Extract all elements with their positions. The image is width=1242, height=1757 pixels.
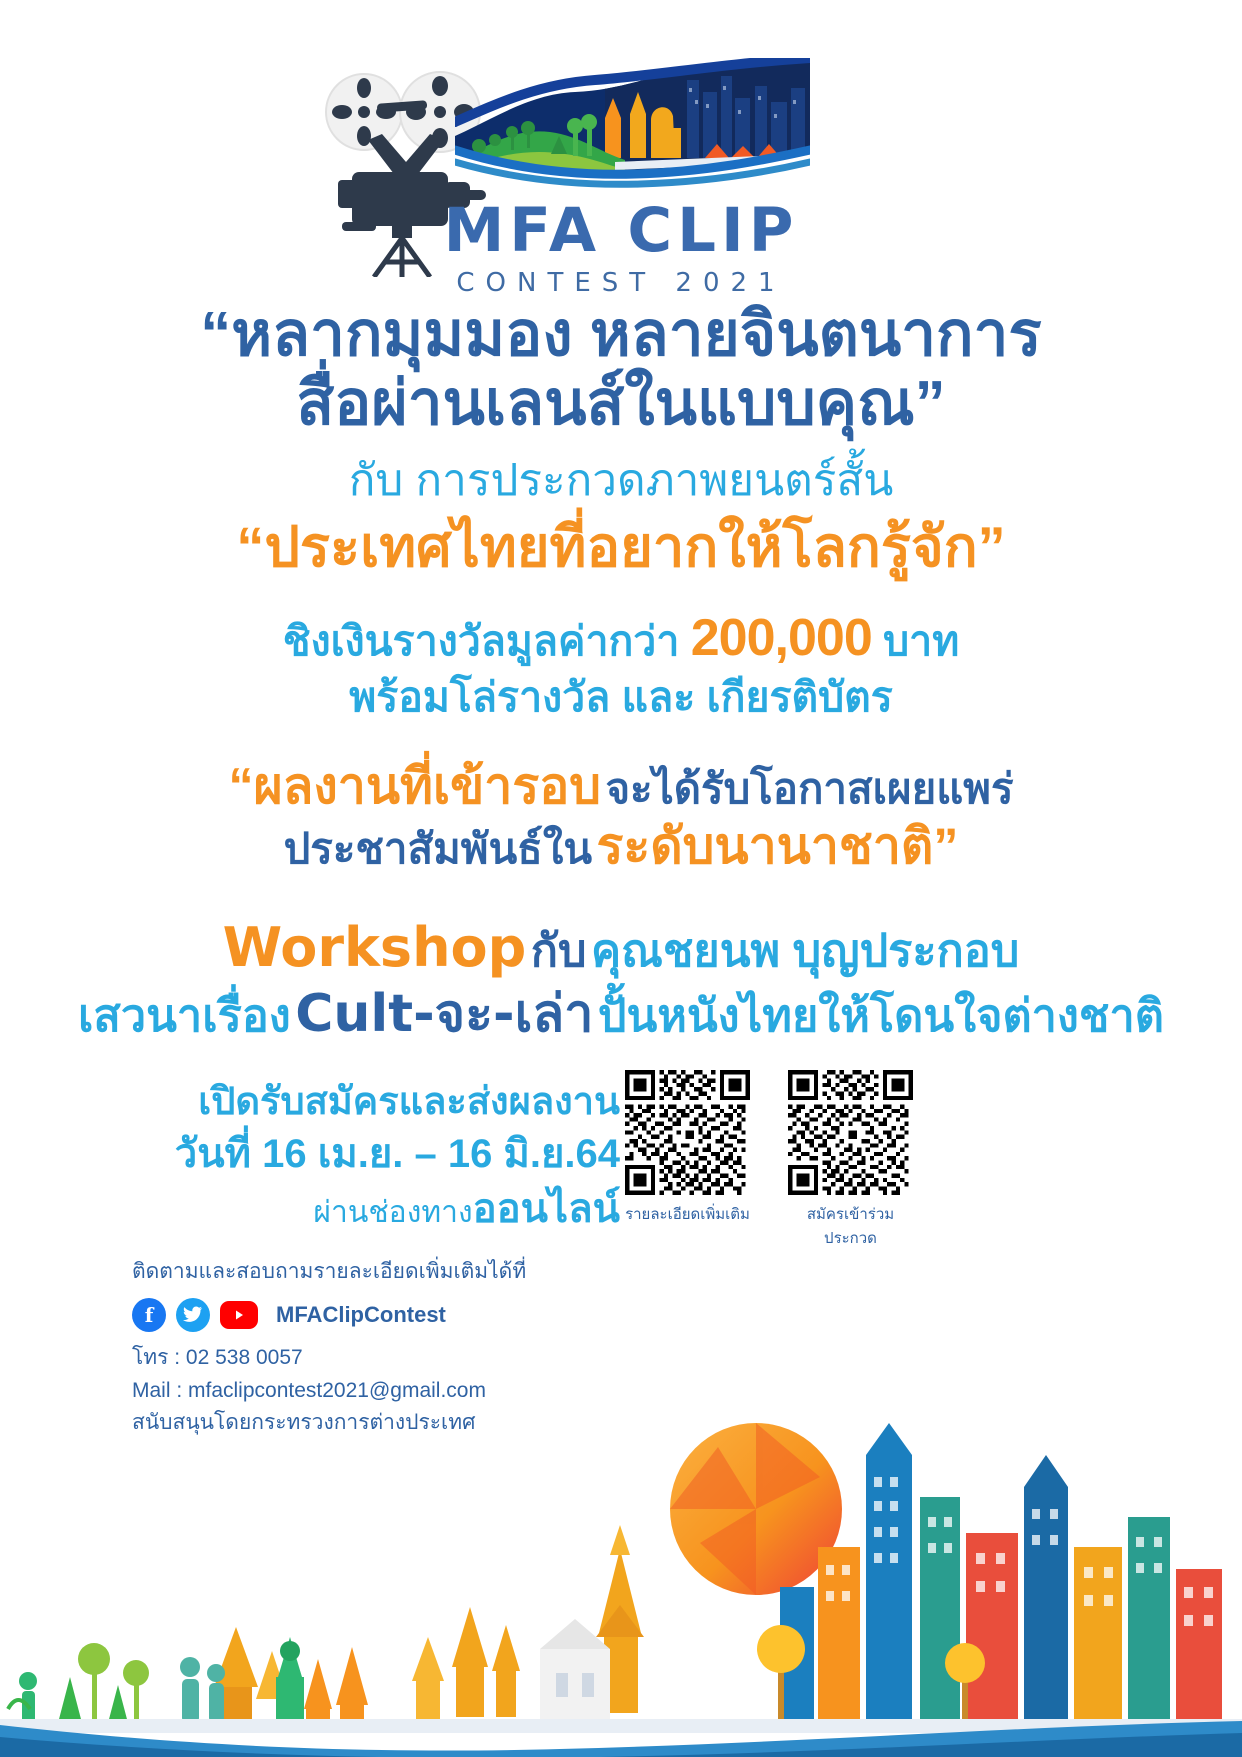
qr-register-contest-caption: สมัครเข้าร่วมประกวด bbox=[788, 1202, 913, 1250]
logo-area: MFA CLIP CONTEST 2021 bbox=[0, 0, 1242, 300]
poster: MFA CLIP CONTEST 2021 “หลากมุมมอง หลายจิ… bbox=[0, 0, 1242, 1757]
workshop-block: Workshop กับ คุณชยนพ บุญประกอบ เสวนาเรื่… bbox=[0, 914, 1242, 1047]
promotion-highlight-2: ระดับนานาชาติ bbox=[596, 818, 933, 874]
workshop-with: กับ bbox=[531, 925, 587, 976]
contest-title: “ประเทศไทยที่อยากให้โลกรู้จัก” bbox=[0, 514, 1242, 580]
logo-wordmark: MFA CLIP CONTEST 2021 bbox=[0, 200, 1242, 298]
promotion-text-1: จะได้รับโอกาสเผยแพร่ bbox=[605, 765, 1013, 812]
promotion-block: “ผลงานที่เข้ารอบ จะได้รับโอกาสเผยแพร่ ปร… bbox=[0, 756, 1242, 876]
poster-content: “หลากมุมมอง หลายจินตนาการ สื่อผ่านเลนส์ใ… bbox=[0, 300, 1242, 1047]
apply-and-qr-row: เปิดรับสมัครและส่งผลงาน วันที่ 16 เม.ย. … bbox=[0, 1070, 1242, 1250]
workshop-line-1: Workshop กับ คุณชยนพ บุญประกอบ bbox=[0, 914, 1242, 982]
logo-subtitle: CONTEST 2021 bbox=[0, 268, 1242, 298]
follow-label: ติดตามและสอบถามรายละเอียดเพิ่มเติมได้ที่ bbox=[132, 1255, 526, 1288]
logo-title: MFA CLIP bbox=[0, 200, 1242, 261]
subhead-with-label: กับ การประกวดภาพยนตร์สั้น bbox=[0, 455, 1242, 508]
workshop-label: Workshop bbox=[223, 916, 527, 979]
apply-channel-strong: ออนไลน์ bbox=[473, 1187, 620, 1231]
promotion-close-quote: ” bbox=[933, 818, 958, 874]
workshop-guest: คุณชยนพ บุญประกอบ bbox=[591, 925, 1019, 976]
qr-more-details[interactable]: รายละเอียดเพิ่มเติม bbox=[625, 1070, 750, 1250]
bottom-skyline-illustration bbox=[0, 1337, 1242, 1757]
apply-line-2: วันที่ 16 เม.ย. – 16 มิ.ย.64 bbox=[150, 1127, 620, 1181]
promotion-line-2: ประชาสัมพันธ์ใน ระดับนานาชาติ” bbox=[0, 816, 1242, 876]
headline-line-2: สื่อผ่านเลนส์ในแบบคุณ” bbox=[0, 369, 1242, 438]
promotion-highlight-1: ผลงานที่เข้ารอบ bbox=[253, 758, 601, 814]
headline-line-1: “หลากมุมมอง หลายจินตนาการ bbox=[0, 300, 1242, 369]
prize-line: ชิงเงินรางวัลมูลค่ากว่า 200,000 บาท bbox=[0, 606, 1242, 671]
prize-lead: ชิงเงินรางวัลมูลค่ากว่า bbox=[283, 618, 680, 664]
promotion-line-1: “ผลงานที่เข้ารอบ จะได้รับโอกาสเผยแพร่ bbox=[0, 756, 1242, 816]
prize-extra: พร้อมโล่รางวัล และ เกียรติบัตร bbox=[0, 671, 1242, 724]
twitter-icon[interactable] bbox=[176, 1298, 210, 1332]
social-handle[interactable]: MFAClipContest bbox=[276, 1302, 446, 1328]
youtube-icon[interactable] bbox=[220, 1301, 258, 1329]
qr-code-group: รายละเอียดเพิ่มเติม bbox=[625, 1070, 965, 1250]
qr-more-details-caption: รายละเอียดเพิ่มเติม bbox=[625, 1202, 750, 1226]
prize-amount: 200,000 bbox=[691, 609, 872, 667]
talk-suffix: ปั้นหนังไทยให้โดนใจต่างชาติ bbox=[598, 990, 1164, 1041]
social-row: f MFAClipContest bbox=[132, 1298, 526, 1332]
qr-register-contest[interactable]: สมัครเข้าร่วมประกวด bbox=[788, 1070, 913, 1250]
apply-info: เปิดรับสมัครและส่งผลงาน วันที่ 16 เม.ย. … bbox=[150, 1078, 620, 1237]
thailand-skyline-wave-band-icon bbox=[455, 58, 810, 198]
qr-more-details-image[interactable] bbox=[625, 1070, 750, 1195]
apply-line-3: ผ่านช่องทางออนไลน์ bbox=[150, 1181, 620, 1237]
apply-line-1: เปิดรับสมัครและส่งผลงาน bbox=[150, 1078, 620, 1127]
prize-unit: บาท bbox=[883, 618, 959, 664]
promotion-open-quote: “ bbox=[228, 758, 253, 814]
facebook-icon[interactable]: f bbox=[132, 1298, 166, 1332]
apply-channel-prefix: ผ่านช่องทาง bbox=[313, 1196, 472, 1229]
qr-register-contest-image[interactable] bbox=[788, 1070, 913, 1195]
talk-prefix: เสวนาเรื่อง bbox=[78, 990, 291, 1041]
promotion-text-2: ประชาสัมพันธ์ใน bbox=[284, 825, 592, 872]
workshop-line-2: เสวนาเรื่อง Cult-จะ-เล่า ปั้นหนังไทยให้โ… bbox=[0, 982, 1242, 1047]
talk-title: Cult-จะ-เล่า bbox=[295, 984, 593, 1044]
